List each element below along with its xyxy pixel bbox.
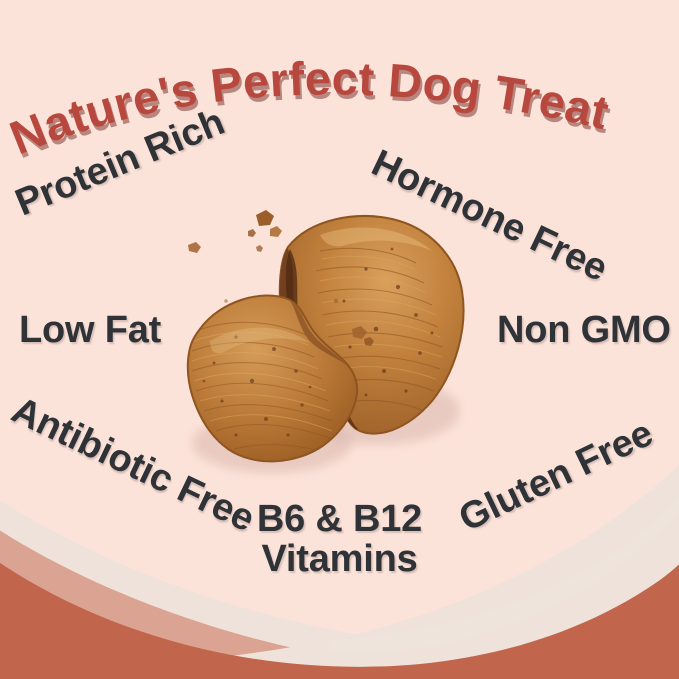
feature-label-low-fat: Low Fat: [19, 311, 161, 351]
product-image-broken-dog-treat: [170, 205, 480, 495]
vitamins-line-1: B6 & B12: [0, 500, 679, 540]
product-feature-poster: Nature's Perfect Dog Treat Nature's Perf…: [0, 0, 679, 679]
feature-label-non-gmo: Non GMO: [497, 311, 671, 351]
feature-label-vitamins: B6 & B12 Vitamins: [0, 500, 679, 579]
vitamins-line-2: Vitamins: [0, 540, 679, 580]
